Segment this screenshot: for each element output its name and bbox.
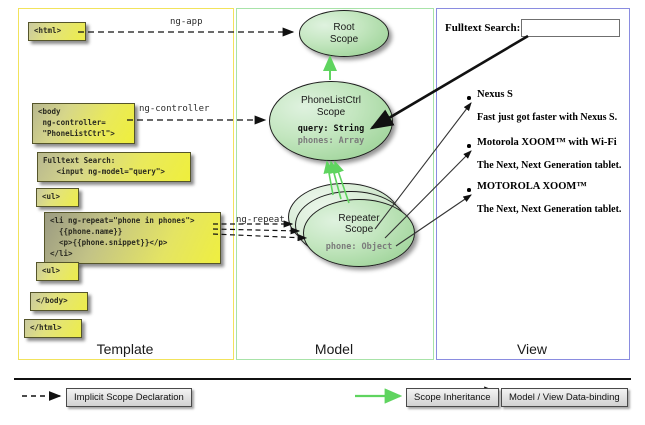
code-box-ul-open: <ul> bbox=[36, 188, 79, 207]
edge-label-ng-controller: ng-controller bbox=[139, 104, 209, 114]
view-search-label: Fulltext Search: bbox=[445, 22, 520, 34]
panel-label-template: Template bbox=[18, 341, 232, 357]
legend-divider bbox=[14, 378, 631, 380]
view-item-name-1: Nexus S bbox=[477, 89, 513, 100]
legend-label-scope-inheritance: Scope Inheritance bbox=[406, 388, 499, 407]
view-bullet-1 bbox=[467, 96, 471, 100]
legend-label-implicit-scope-declaration: Implicit Scope Declaration bbox=[66, 388, 192, 407]
repeater-scope-title: Repeater Scope bbox=[338, 213, 379, 236]
view-item-snippet-3: The Next, Next Generation tablet. bbox=[477, 204, 621, 215]
diagram-canvas: Template Model View <html> <body ng-cont… bbox=[0, 0, 645, 425]
ellipse-repeater-scope: Repeater Scope phone: Object bbox=[303, 199, 415, 267]
code-box-li-repeat: <li ng-repeat="phone in phones"> {{phone… bbox=[44, 212, 221, 264]
code-box-ul-close: <ul> bbox=[36, 262, 79, 281]
view-bullet-3 bbox=[467, 188, 471, 192]
prop-phones: phones: Array bbox=[298, 136, 365, 147]
code-box-html-open: <html> bbox=[28, 22, 86, 41]
code-box-html-close: </html> bbox=[24, 319, 82, 338]
edge-label-ng-repeat: ng-repeat bbox=[236, 215, 285, 225]
edge-label-ng-app: ng-app bbox=[170, 17, 203, 27]
code-box-body-close: </body> bbox=[30, 292, 88, 311]
panel-label-model: Model bbox=[236, 341, 432, 357]
phonelist-scope-title: PhoneListCtrl Scope bbox=[301, 95, 361, 118]
prop-phone: phone: Object bbox=[326, 242, 393, 253]
prop-query: query: String bbox=[298, 124, 365, 135]
root-scope-title: Root Scope bbox=[330, 22, 358, 45]
view-bullet-2 bbox=[467, 144, 471, 148]
code-box-fulltext-search: Fulltext Search: <input ng-model="query"… bbox=[37, 152, 191, 182]
view-search-input[interactable] bbox=[521, 19, 620, 37]
view-item-snippet-2: The Next, Next Generation tablet. bbox=[477, 160, 621, 171]
ellipse-root-scope: Root Scope bbox=[299, 10, 389, 57]
ellipse-phonelistctrl-scope: PhoneListCtrl Scope query: String phones… bbox=[269, 81, 393, 161]
legend-label-model-view-data-binding: Model / View Data-binding bbox=[501, 388, 628, 407]
code-box-body-open: <body ng-controller= "PhoneListCtrl"> bbox=[32, 103, 135, 144]
view-item-name-2: Motorola XOOM™ with Wi-Fi bbox=[477, 137, 617, 148]
panel-label-view: View bbox=[436, 341, 628, 357]
view-item-snippet-1: Fast just got faster with Nexus S. bbox=[477, 112, 617, 123]
repeater-scope-props: phone: Object bbox=[326, 242, 393, 253]
view-item-name-3: MOTOROLA XOOM™ bbox=[477, 181, 587, 192]
phonelist-scope-props: query: String phones: Array bbox=[298, 124, 365, 147]
